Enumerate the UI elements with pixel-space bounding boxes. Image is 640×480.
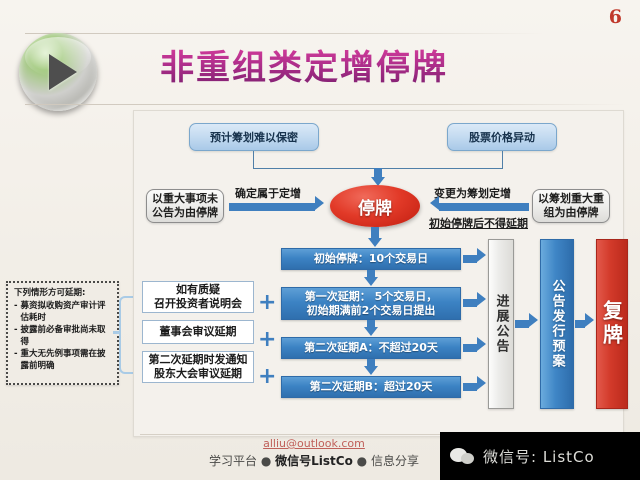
arrow-right-icon [585, 313, 594, 327]
connector-shaft [463, 299, 477, 307]
connector-shaft [463, 383, 477, 391]
callout-dash: - [14, 301, 18, 324]
footer-tagline-part1: 学习平台 ● [209, 454, 275, 468]
arrow-down-icon [364, 327, 378, 336]
list-item: - 披露前必备审批尚未取得 [14, 325, 112, 348]
node-price-abnormality[interactable]: 股票价格异动 [447, 123, 557, 151]
diagram-panel: 预计筹划难以保密 股票价格异动 以重大事项未 公告为由停牌 以筹划重大重 组为由… [133, 110, 624, 437]
list-item: - 重大无先例事项需在披露前明确 [14, 349, 112, 372]
plus-icon: + [258, 329, 276, 351]
callout-box: 下列情形方可延期: - 募资拟收购资产审计评估耗时 - 披露前必备审批尚未取得 … [6, 281, 119, 385]
callout-dash: - [14, 349, 18, 372]
node-investor-meeting[interactable]: 如有质疑 召开投资者说明会 [142, 281, 254, 313]
node-second-extension-b[interactable]: 第二次延期B：超过20天 [281, 376, 461, 398]
callout-item-text: 募资拟收购资产审计评估耗时 [21, 301, 112, 324]
edge-label-left: 确定属于定增 [235, 185, 301, 201]
connector-shaft [229, 203, 315, 211]
callout-dash: - [14, 325, 18, 348]
arrow-down-icon [364, 366, 378, 375]
node-board-review[interactable]: 董事会审议延期 [142, 320, 254, 344]
header-divider-bottom [25, 104, 625, 105]
plus-icon: + [258, 292, 276, 314]
node-label: 以筹划重大重 [538, 192, 604, 206]
node-label: 第一次延期： 5个交易日， [305, 290, 437, 304]
node-label: 股东大会审议延期 [154, 367, 242, 381]
node-label: 召开投资者说明会 [154, 297, 242, 311]
connector-shaft [515, 320, 529, 328]
node-resume-trading[interactable]: 复牌 [596, 239, 628, 409]
edge-label-right: 变更为筹划定增 [434, 185, 511, 201]
play-triangle-icon [49, 54, 77, 90]
footer-email[interactable]: alliu@outlook.com [140, 437, 488, 450]
node-label: 如有质疑 [176, 283, 220, 297]
callout-item-text: 重大无先例事项需在披露前明确 [21, 349, 112, 372]
footer-tagline-bold: 微信号ListCo [275, 454, 353, 468]
footer: alliu@outlook.com 学习平台 ● 微信号ListCo ● 信息分… [140, 437, 488, 469]
node-label: 第二次延期时发通知 [149, 353, 248, 367]
arrow-right-icon [477, 337, 486, 351]
connector-shaft [575, 320, 585, 328]
node-suspension[interactable]: 停牌 [330, 185, 420, 227]
callout-item-text: 披露前必备审批尚未取得 [21, 325, 112, 348]
node-label: 组为由停牌 [544, 206, 599, 220]
node-issue-plan-announcement[interactable]: 公告发行预案 [540, 239, 574, 409]
play-icon [19, 33, 97, 111]
node-second-extension-a[interactable]: 第二次延期A：不超过20天 [281, 337, 461, 359]
connector-line [253, 151, 254, 169]
footer-divider [140, 434, 490, 435]
arrow-left-icon [430, 196, 439, 210]
arrow-down-icon [364, 277, 378, 286]
node-initial-suspension[interactable]: 初始停牌：10个交易日 [281, 248, 461, 270]
callout-list: - 募资拟收购资产审计评估耗时 - 披露前必备审批尚未取得 - 重大无先例事项需… [14, 301, 112, 372]
node-progress-announcement[interactable]: 进展公告 [488, 239, 514, 409]
arrow-right-icon [477, 248, 486, 262]
page-title: 非重组类定增停牌 [160, 40, 448, 89]
header-divider-top [25, 33, 545, 34]
arrow-right-icon [315, 196, 324, 210]
list-item: - 募资拟收购资产审计评估耗时 [14, 301, 112, 324]
wechat-label: 微信号: ListCo [483, 446, 595, 467]
node-expected-confidentiality[interactable]: 预计筹划难以保密 [189, 123, 319, 151]
arrow-right-icon [477, 292, 486, 306]
connector-shaft [463, 255, 477, 263]
node-first-extension[interactable]: 第一次延期： 5个交易日， 初始期满前2个交易日提出 [281, 287, 461, 320]
arrow-down-icon [368, 238, 382, 247]
node-label: 以重大事项未 [152, 192, 218, 206]
plus-icon: + [258, 366, 276, 388]
wechat-banner: 微信号: ListCo [440, 432, 640, 480]
node-shareholder-meeting[interactable]: 第二次延期时发通知 股东大会审议延期 [142, 351, 254, 383]
node-label: 公告为由停牌 [152, 206, 218, 220]
wechat-icon [450, 447, 476, 465]
slide-root: 6 非重组类定增停牌 下列情形方可延期: - 募资拟收购资产审计评估耗时 - 披… [0, 0, 640, 480]
node-label: 初始期满前2个交易日提出 [307, 304, 436, 318]
node-right-trigger[interactable]: 以筹划重大重 组为由停牌 [532, 189, 610, 223]
callout-bracket-stub [113, 331, 121, 334]
page-number: 6 [609, 6, 622, 28]
footer-tagline: 学习平台 ● 微信号ListCo ● 信息分享 [140, 452, 488, 469]
callout-title: 下列情形方可延期: [14, 288, 112, 299]
arrow-right-icon [477, 376, 486, 390]
footer-tagline-part2: ● 信息分享 [353, 454, 419, 468]
edge-label-no-extension: 初始停牌后不得延期 [429, 215, 528, 231]
node-left-trigger[interactable]: 以重大事项未 公告为由停牌 [146, 189, 224, 223]
connector-shaft [463, 344, 477, 352]
connector-line [502, 151, 503, 169]
arrow-right-icon [529, 313, 538, 327]
connector-shaft [439, 203, 529, 211]
